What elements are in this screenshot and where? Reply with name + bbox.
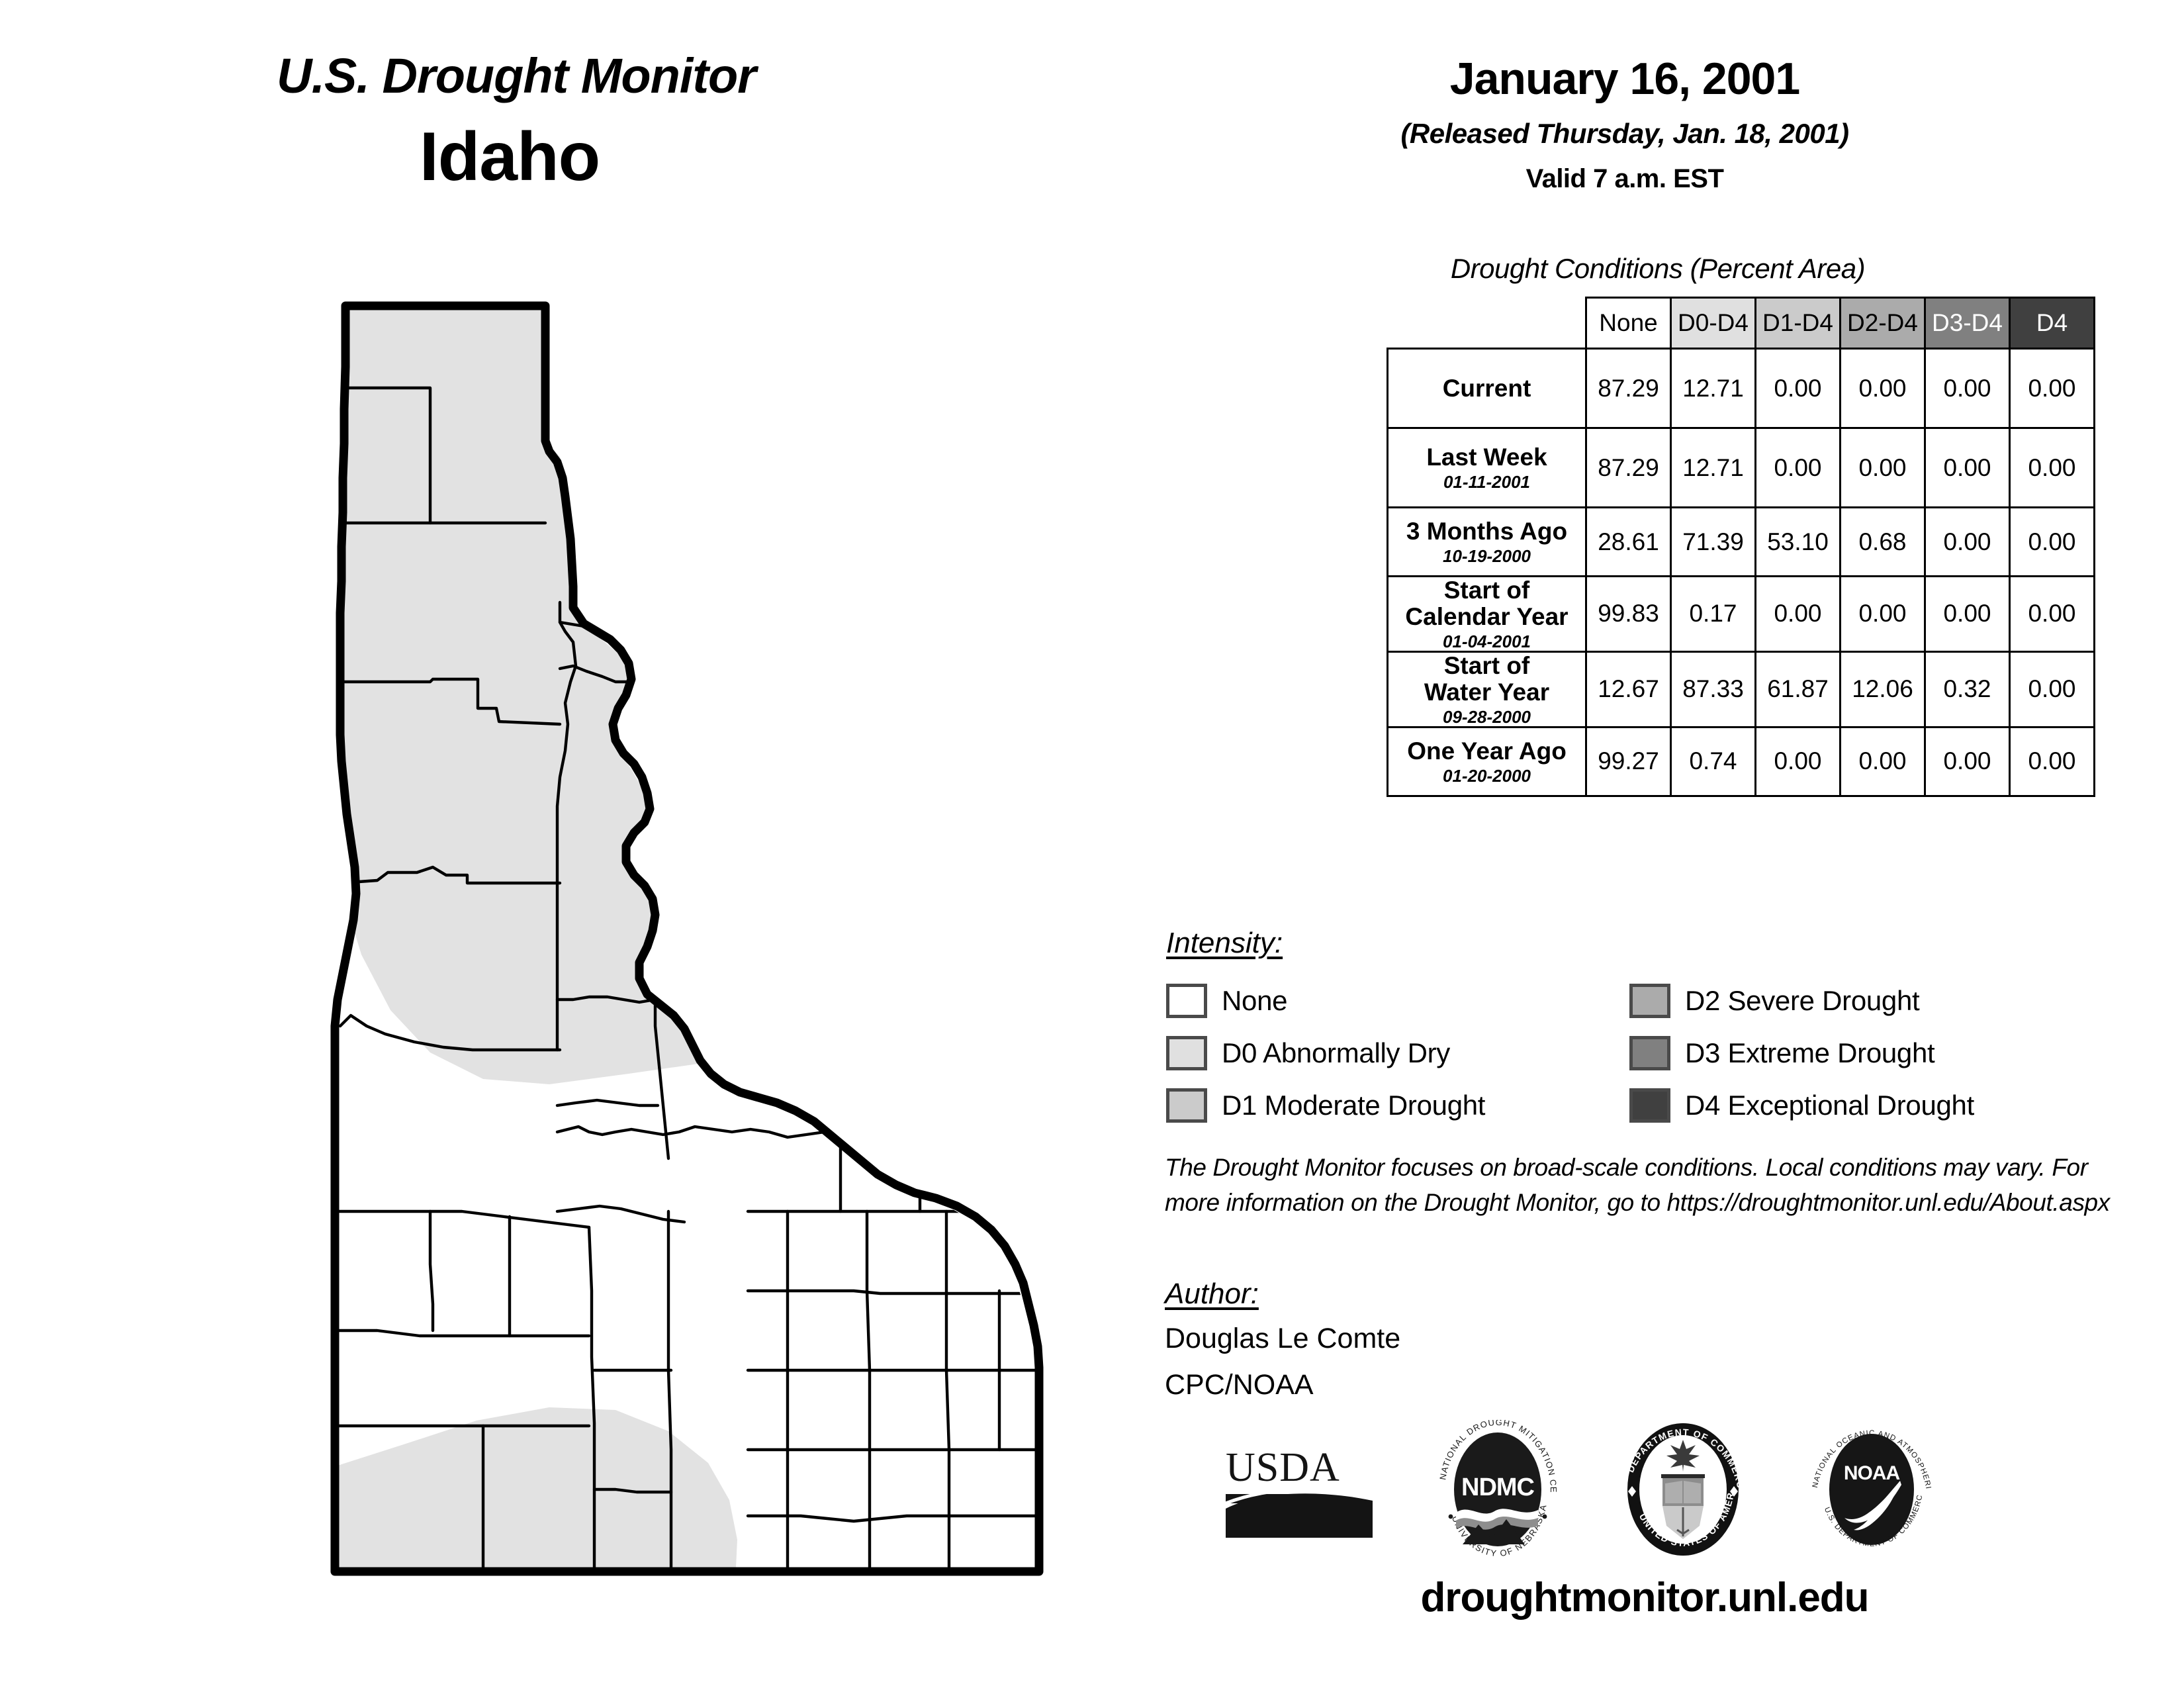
svg-text:NOAA: NOAA [1844, 1462, 1900, 1484]
author-name: Douglas Le Comte [1165, 1323, 1400, 1355]
legend-label: None [1222, 985, 1287, 1017]
row-label-one-year-ago: One Year Ago 01-20-2000 [1388, 727, 1586, 796]
cell-d3-d4: 0.00 [1925, 349, 2010, 428]
release-date: (Released Thursday, Jan. 18, 2001) [1152, 118, 2098, 150]
cell-d4: 0.00 [2010, 508, 2095, 577]
cell-d1-d4: 0.00 [1756, 428, 1841, 508]
row-label-date: 01-11-2001 [1388, 473, 1585, 491]
swatch-d2 [1629, 984, 1670, 1018]
program-title: U.S. Drought Monitor [0, 48, 1032, 104]
legend-item-d2: D2 Severe Drought [1629, 974, 2079, 1027]
cell-d3-d4: 0.00 [1925, 727, 2010, 796]
cell-d1-d4: 0.00 [1756, 577, 1841, 652]
cell-none: 87.29 [1586, 349, 1671, 428]
cell-d3-d4: 0.00 [1925, 508, 2010, 577]
cell-d1-d4: 0.00 [1756, 349, 1841, 428]
author-heading: Author: [1165, 1278, 1259, 1311]
cell-none: 99.27 [1586, 727, 1671, 796]
cell-d4: 0.00 [2010, 577, 2095, 652]
cell-d3-d4: 0.00 [1925, 577, 2010, 652]
ndmc-logo: NATIONAL DROUGHT MITIGATION CENTER UNIVE… [1428, 1420, 1567, 1559]
partner-logos: USDA NATIONAL DROUGHT MITIGATION CENTER [1171, 1423, 2111, 1556]
map-date: January 16, 2001 [1152, 53, 2098, 105]
swatch-d0 [1166, 1036, 1207, 1070]
drought-overlay-d0 [298, 285, 1066, 1595]
row-label-line1: Start of [1444, 577, 1530, 604]
cell-d2-d4: 0.00 [1841, 349, 1925, 428]
legend-label: D4 Exceptional Drought [1685, 1090, 1974, 1121]
cell-none: 99.83 [1586, 577, 1671, 652]
usda-logo: USDA [1223, 1440, 1375, 1539]
map-panel: U.S. Drought Monitor Idaho [0, 0, 1152, 1688]
cell-d3-d4: 0.32 [1925, 651, 2010, 727]
valid-time: Valid 7 a.m. EST [1152, 164, 2098, 194]
drought-conditions-table: None D0-D4 D1-D4 D2-D4 D3-D4 D4 Current … [1387, 297, 2095, 797]
row-label-text: Current [1443, 375, 1531, 402]
row-label-text: One Year Ago [1407, 737, 1567, 765]
table-row: 3 Months Ago 10-19-2000 28.61 71.39 53.1… [1388, 508, 2095, 577]
cell-d4: 0.00 [2010, 651, 2095, 727]
swatch-d3 [1629, 1036, 1670, 1070]
info-panel: January 16, 2001 (Released Thursday, Jan… [1152, 0, 2184, 1688]
swatch-d4 [1629, 1088, 1670, 1123]
row-label-last-week: Last Week 01-11-2001 [1388, 428, 1586, 508]
cell-d0-d4: 12.71 [1671, 428, 1756, 508]
row-label-date: 01-20-2000 [1388, 767, 1585, 785]
cell-d4: 0.00 [2010, 727, 2095, 796]
intensity-heading: Intensity: [1166, 927, 1283, 960]
row-label-text: 3 Months Ago [1406, 518, 1567, 545]
legend-item-none: None [1166, 974, 1616, 1027]
cell-d0-d4: 71.39 [1671, 508, 1756, 577]
cell-d1-d4: 0.00 [1756, 727, 1841, 796]
website-url: droughtmonitor.unl.edu [1152, 1574, 2138, 1621]
d0-region-north [311, 285, 1066, 1084]
cell-d4: 0.00 [2010, 349, 2095, 428]
row-label-line1: Start of [1444, 652, 1530, 679]
cell-d2-d4: 0.00 [1841, 577, 1925, 652]
cell-d0-d4: 12.71 [1671, 349, 1756, 428]
cell-d0-d4: 87.33 [1671, 651, 1756, 727]
row-label-start-of-calendar-year: Start of Calendar Year 01-04-2001 [1388, 577, 1586, 652]
author-organization: CPC/NOAA [1165, 1369, 1314, 1401]
swatch-d1 [1166, 1088, 1207, 1123]
row-label-date: 01-04-2001 [1388, 632, 1585, 651]
column-header-d2-d4: D2-D4 [1841, 298, 1925, 349]
table-row: One Year Ago 01-20-2000 99.27 0.74 0.00 … [1388, 727, 2095, 796]
table-row: Current 87.29 12.71 0.00 0.00 0.00 0.00 [1388, 349, 2095, 428]
row-label-line2: Calendar Year [1405, 603, 1568, 630]
column-header-d3-d4: D3-D4 [1925, 298, 2010, 349]
cell-d1-d4: 61.87 [1756, 651, 1841, 727]
drought-monitor-page: U.S. Drought Monitor Idaho [0, 0, 2184, 1688]
legend-label: D2 Severe Drought [1685, 985, 1919, 1017]
legend-item-d0: D0 Abnormally Dry [1166, 1027, 1616, 1079]
legend-label: D3 Extreme Drought [1685, 1037, 1934, 1069]
cell-none: 28.61 [1586, 508, 1671, 577]
table-row: Last Week 01-11-2001 87.29 12.71 0.00 0.… [1388, 428, 2095, 508]
row-label-start-of-water-year: Start of Water Year 09-28-2000 [1388, 651, 1586, 727]
table-row: Start of Water Year 09-28-2000 12.67 87.… [1388, 651, 2095, 727]
disclaimer-text: The Drought Monitor focuses on broad-sca… [1165, 1150, 2144, 1220]
cell-d3-d4: 0.00 [1925, 428, 2010, 508]
cell-none: 87.29 [1586, 428, 1671, 508]
legend-label: D0 Abnormally Dry [1222, 1037, 1450, 1069]
cell-d2-d4: 0.00 [1841, 727, 1925, 796]
legend-item-d1: D1 Moderate Drought [1166, 1079, 1616, 1131]
header-corner-blank [1388, 298, 1586, 349]
cell-d4: 0.00 [2010, 428, 2095, 508]
cell-d0-d4: 0.74 [1671, 727, 1756, 796]
department-of-commerce-logo: DEPARTMENT OF COMMERCE UNITED STATES OF … [1614, 1420, 1752, 1559]
row-label-3-months-ago: 3 Months Ago 10-19-2000 [1388, 508, 1586, 577]
noaa-logo: NATIONAL OCEANIC AND ATMOSPHERIC ADMINIS… [1802, 1420, 1941, 1559]
cell-d1-d4: 53.10 [1756, 508, 1841, 577]
row-label-current: Current [1388, 349, 1586, 428]
cell-none: 12.67 [1586, 651, 1671, 727]
cell-d2-d4: 0.00 [1841, 428, 1925, 508]
state-title: Idaho [0, 118, 1019, 197]
legend-item-d3: D3 Extreme Drought [1629, 1027, 2079, 1079]
row-label-date: 09-28-2000 [1388, 708, 1585, 726]
cell-d2-d4: 0.68 [1841, 508, 1925, 577]
intensity-legend: None D2 Severe Drought D0 Abnormally Dry… [1166, 974, 2159, 1131]
legend-label: D1 Moderate Drought [1222, 1090, 1485, 1121]
svg-text:USDA: USDA [1226, 1445, 1340, 1490]
row-label-line2: Water Year [1424, 679, 1549, 706]
idaho-drought-map [218, 285, 1145, 1602]
swatch-none [1166, 984, 1207, 1018]
column-header-none: None [1586, 298, 1671, 349]
column-header-d0-d4: D0-D4 [1671, 298, 1756, 349]
svg-text:NDMC: NDMC [1461, 1474, 1535, 1501]
table-header-row: None D0-D4 D1-D4 D2-D4 D3-D4 D4 [1388, 298, 2095, 349]
cell-d2-d4: 12.06 [1841, 651, 1925, 727]
cell-d0-d4: 0.17 [1671, 577, 1756, 652]
row-label-text: Last Week [1426, 444, 1547, 471]
table-row: Start of Calendar Year 01-04-2001 99.83 … [1388, 577, 2095, 652]
row-label-date: 10-19-2000 [1388, 547, 1585, 565]
table-caption: Drought Conditions (Percent Area) [1152, 253, 2164, 285]
column-header-d1-d4: D1-D4 [1756, 298, 1841, 349]
legend-item-d4: D4 Exceptional Drought [1629, 1079, 2079, 1131]
column-header-d4: D4 [2010, 298, 2095, 349]
